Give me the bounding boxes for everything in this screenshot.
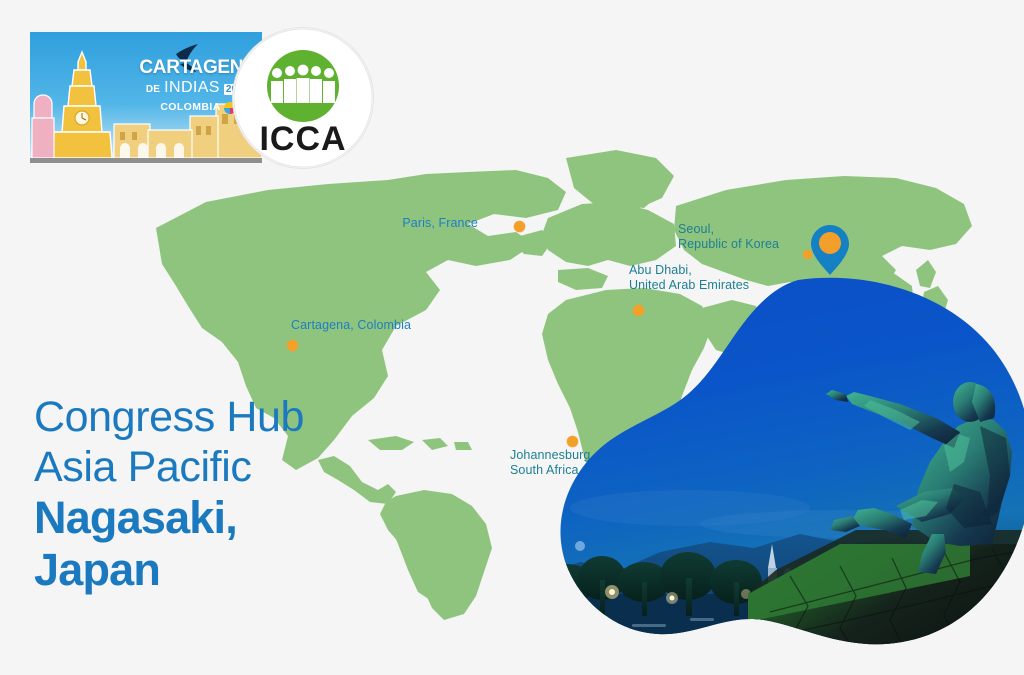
photo-blob-shape: [540, 276, 1024, 648]
icca-logo[interactable]: ICCA: [233, 28, 373, 168]
map-pin-nagasaki[interactable]: [810, 224, 850, 276]
headline-line-1: Congress Hub: [34, 392, 454, 442]
headline-block: Congress Hub Asia Pacific Nagasaki, Japa…: [34, 392, 454, 596]
marker-label-paris: Paris, France: [300, 216, 478, 231]
icca-wordmark: ICCA: [259, 120, 346, 158]
cartagena-de-indias-2021-banner: CARTAGENA DE INDIAS 2021 COLOMBIA: [30, 32, 262, 163]
icca-people-icons: [271, 65, 335, 103]
banner-line-indias: INDIAS: [164, 79, 220, 97]
marker-dot-paris[interactable]: [514, 221, 525, 232]
headline-line-4: Japan: [34, 544, 454, 596]
banner-country: COLOMBIA: [160, 101, 220, 113]
headline-line-2: Asia Pacific: [34, 442, 454, 492]
icca-logo-graphic: ICCA: [233, 28, 373, 168]
marker-dot-cartagena[interactable]: [287, 340, 298, 351]
poster-canvas: Paris, France Seoul, Republic of Korea A…: [0, 0, 1024, 675]
nagasaki-peace-statue-photo: [540, 276, 1024, 648]
marker-label-cartagena: Cartagena, Colombia: [291, 318, 491, 333]
marker-label-seoul: Seoul, Republic of Korea: [678, 222, 828, 251]
banner-line-de: DE: [146, 84, 160, 95]
headline-line-3: Nagasaki,: [34, 492, 454, 544]
